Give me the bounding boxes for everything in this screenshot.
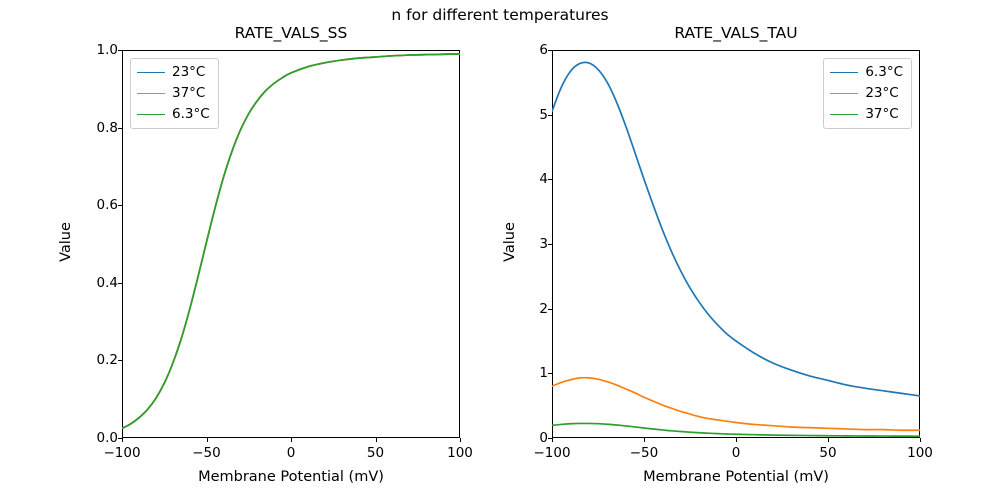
ytick [118, 360, 122, 361]
ytick-label: 0.6 [97, 197, 118, 213]
axes-title-ss: RATE_VALS_SS [122, 24, 460, 42]
legend-tau: 6.3°C23°C37°C [823, 58, 912, 129]
ytick [118, 50, 122, 51]
xtick [291, 438, 292, 442]
xtick [122, 438, 123, 442]
legend-label: 6.3°C [172, 106, 210, 123]
ytick [548, 244, 552, 245]
legend-label: 6.3°C [865, 64, 903, 81]
legend-label: 37°C [172, 85, 205, 102]
matplotlib-figure: n for different temperatures RATE_VALS_S… [0, 0, 1000, 500]
ytick [548, 309, 552, 310]
xlabel-ss: Membrane Potential (mV) [122, 469, 460, 485]
legend-entry: 37°C [830, 106, 903, 123]
xtick [736, 438, 737, 442]
ytick [548, 438, 552, 439]
ytick [118, 438, 122, 439]
xtick-label: 100 [907, 445, 933, 461]
legend-line-swatch [830, 93, 858, 94]
ytick-label: 0.8 [97, 120, 118, 136]
axes-rate-vals-ss: RATE_VALS_SS −100−500501000.00.20.40.60.… [122, 50, 460, 438]
legend-line-swatch [830, 72, 858, 73]
legend-entry: 23°C [830, 85, 903, 102]
xlabel-tau: Membrane Potential (mV) [552, 469, 920, 485]
legend-line-swatch [137, 114, 165, 115]
ytick [548, 115, 552, 116]
ytick-label: 4 [539, 171, 548, 187]
xtick-label: −50 [630, 445, 659, 461]
figure-suptitle: n for different temperatures [0, 6, 1000, 24]
ytick-label: 0.0 [97, 430, 118, 446]
ytick [548, 50, 552, 51]
ytick-label: 0 [539, 430, 548, 446]
axes-title-tau: RATE_VALS_TAU [552, 24, 920, 42]
series-line-23C [552, 378, 920, 431]
ytick-label: 3 [539, 236, 548, 252]
ytick [548, 373, 552, 374]
xtick-label: −100 [103, 445, 140, 461]
ytick-label: 2 [539, 301, 548, 317]
ytick [548, 179, 552, 180]
legend-line-swatch [137, 93, 165, 94]
ytick-label: 1.0 [97, 42, 118, 58]
legend-entry: 6.3°C [830, 64, 903, 81]
legend-entry: 23°C [137, 64, 210, 81]
legend-label: 23°C [172, 64, 205, 81]
xtick [920, 438, 921, 442]
legend-ss: 23°C37°C6.3°C [130, 58, 219, 129]
ytick-label: 1 [539, 365, 548, 381]
xtick-label: 100 [447, 445, 473, 461]
legend-entry: 37°C [137, 85, 210, 102]
ytick [118, 128, 122, 129]
ytick-label: 0.4 [97, 275, 118, 291]
xtick [460, 438, 461, 442]
legend-entry: 6.3°C [137, 106, 210, 123]
legend-label: 37°C [865, 106, 898, 123]
xtick-label: 50 [819, 445, 836, 461]
ylabel-tau: Value [502, 222, 518, 262]
xtick [644, 438, 645, 442]
ytick [118, 283, 122, 284]
xtick [552, 438, 553, 442]
ytick-label: 5 [539, 107, 548, 123]
ytick [118, 205, 122, 206]
ytick-label: 6 [539, 42, 548, 58]
xtick [207, 438, 208, 442]
ylabel-ss: Value [58, 222, 74, 262]
xtick-label: 50 [367, 445, 384, 461]
xtick-label: 0 [287, 445, 296, 461]
legend-label: 23°C [865, 85, 898, 102]
xtick [828, 438, 829, 442]
xtick-label: −50 [192, 445, 221, 461]
xtick-label: 0 [732, 445, 741, 461]
axes-rate-vals-tau: RATE_VALS_TAU −100−500501000123456 Membr… [552, 50, 920, 438]
xtick-label: −100 [533, 445, 570, 461]
legend-line-swatch [830, 114, 858, 115]
ytick-label: 0.2 [97, 352, 118, 368]
legend-line-swatch [137, 72, 165, 73]
xtick [376, 438, 377, 442]
